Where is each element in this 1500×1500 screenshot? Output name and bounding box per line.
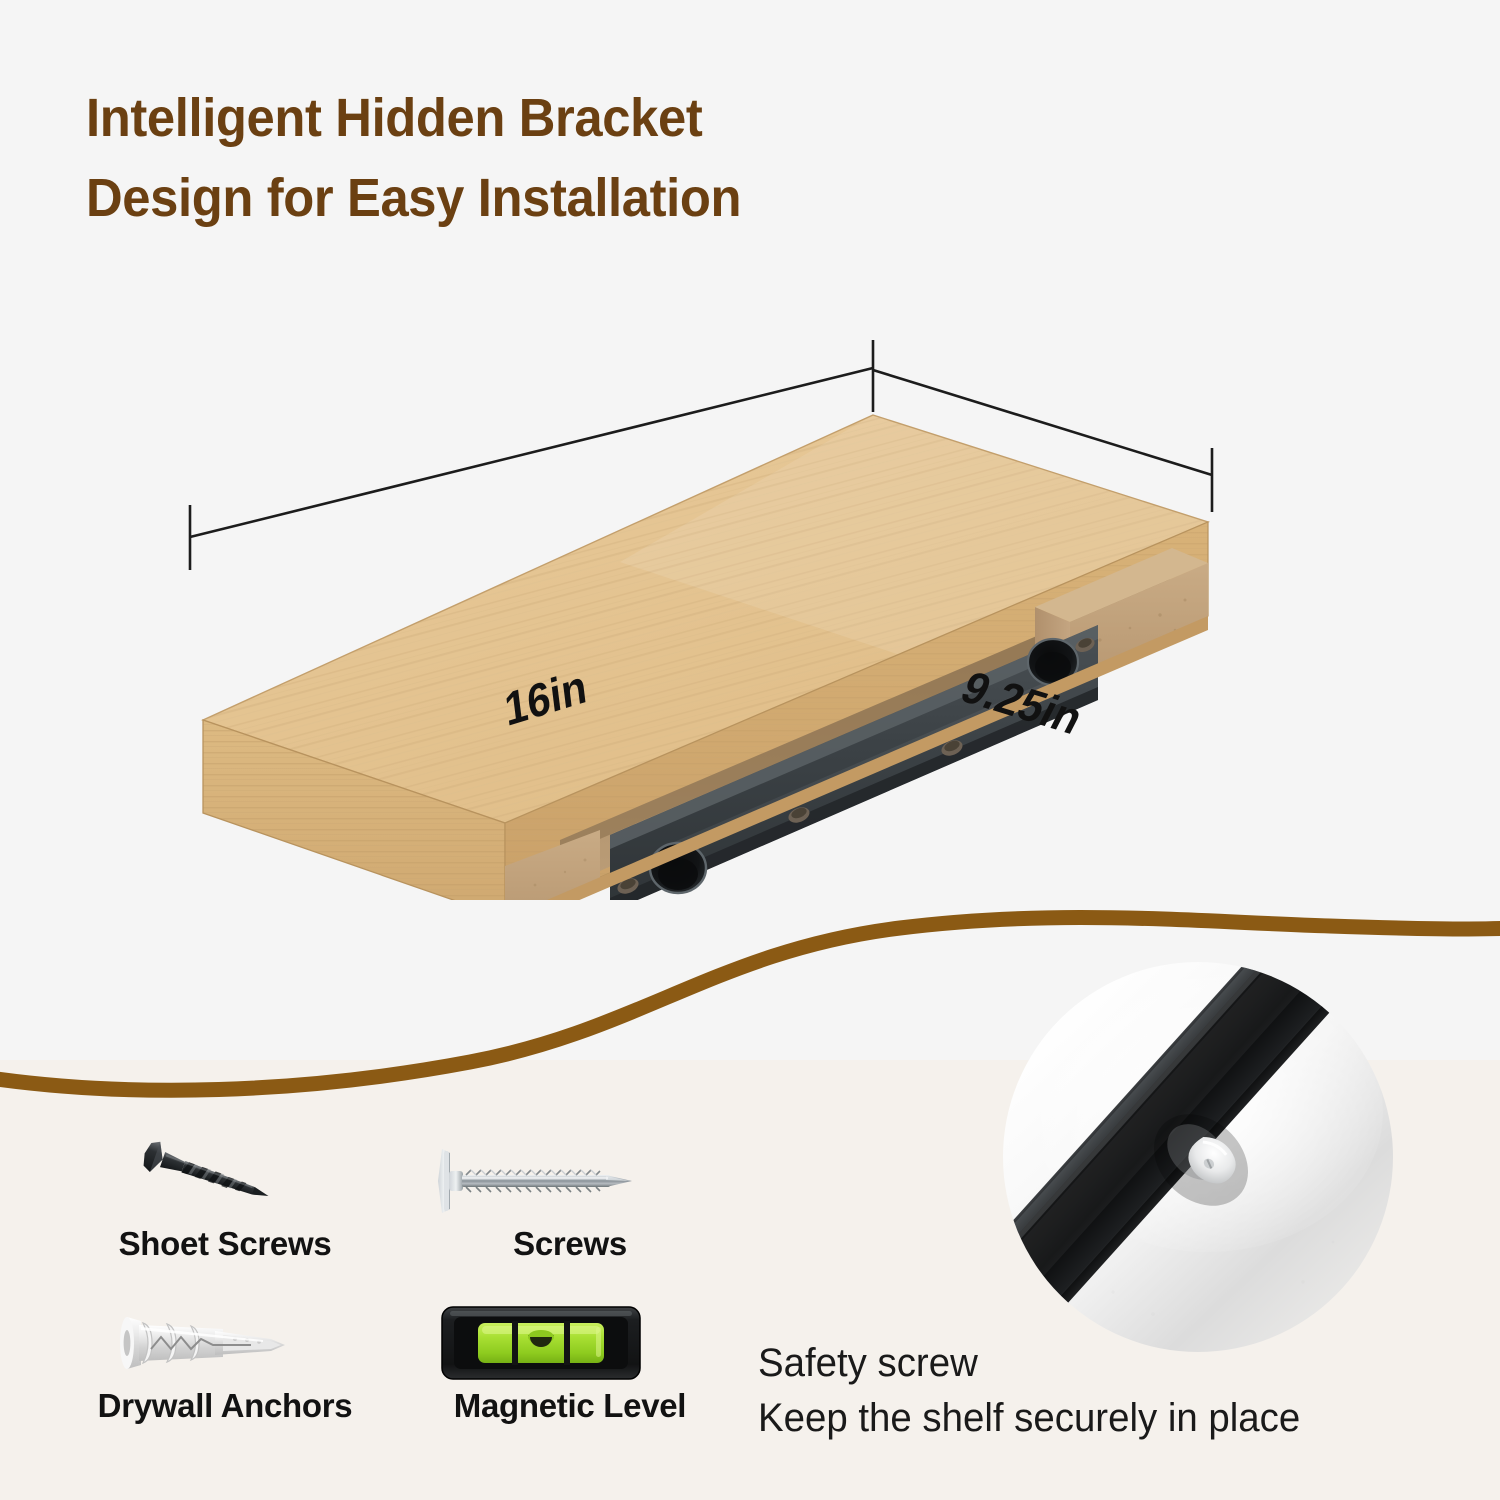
infographic-canvas: 16in 9.25in Intelligent Hidden Bracket D… xyxy=(0,0,1500,1500)
list-item-label: Shoet Screws xyxy=(55,1225,395,1263)
black-countersunk-screw-icon xyxy=(55,1135,395,1227)
list-item: Magnetic Level xyxy=(400,1297,740,1462)
list-item-label: Magnetic Level xyxy=(400,1387,740,1425)
hardware-list: Shoet Screws xyxy=(55,1135,755,1465)
white-plastic-drywall-anchor-icon xyxy=(55,1297,395,1389)
list-item: Screws xyxy=(400,1135,740,1300)
feature-subtext: Keep the shelf securely in place xyxy=(758,1391,1430,1446)
list-item-label: Drywall Anchors xyxy=(55,1387,395,1425)
list-item-label: Screws xyxy=(400,1225,740,1263)
page-title: Intelligent Hidden Bracket Design for Ea… xyxy=(86,78,970,238)
magnetic-bubble-level-icon xyxy=(400,1297,740,1389)
silver-washer-head-screw-icon xyxy=(400,1135,740,1227)
feature-heading: Safety screw xyxy=(758,1336,1430,1391)
feature-caption: Safety screw Keep the shelf securely in … xyxy=(758,1336,1430,1446)
list-item: Drywall Anchors xyxy=(55,1297,395,1462)
safety-screw-photo xyxy=(1003,962,1393,1352)
shelf-illustration: 16in 9.25in xyxy=(0,300,1280,900)
list-item: Shoet Screws xyxy=(55,1135,395,1300)
